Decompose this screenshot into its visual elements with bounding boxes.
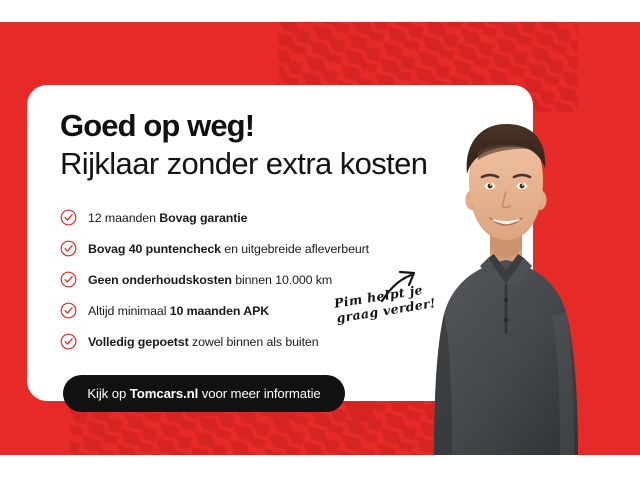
check-circle-icon <box>60 271 77 288</box>
feature-label: Geen onderhoudskosten binnen 10.000 km <box>88 273 332 287</box>
feature-label: 12 maanden Bovag garantie <box>88 211 247 225</box>
check-circle-icon <box>60 209 77 226</box>
check-circle-icon <box>60 240 77 257</box>
more-info-button[interactable]: Kijk op Tomcars.nl voor meer informatie <box>63 375 345 412</box>
feature-label: Altijd minimaal 10 maanden APK <box>88 304 269 318</box>
promo-banner: Goed op weg! Rijklaar zonder extra koste… <box>0 0 640 480</box>
feature-label: Bovag 40 puntencheck en uitgebreide afle… <box>88 242 369 256</box>
check-circle-icon <box>60 302 77 319</box>
feature-label: Volledig gepoetst zowel binnen als buite… <box>88 335 319 349</box>
cta-label-suffix: voor meer informatie <box>198 386 321 401</box>
cta-label-brand: Tomcars.nl <box>130 386 198 401</box>
check-circle-icon <box>60 333 77 350</box>
salesperson-photo <box>432 108 640 455</box>
cta-label-prefix: Kijk op <box>87 386 129 401</box>
